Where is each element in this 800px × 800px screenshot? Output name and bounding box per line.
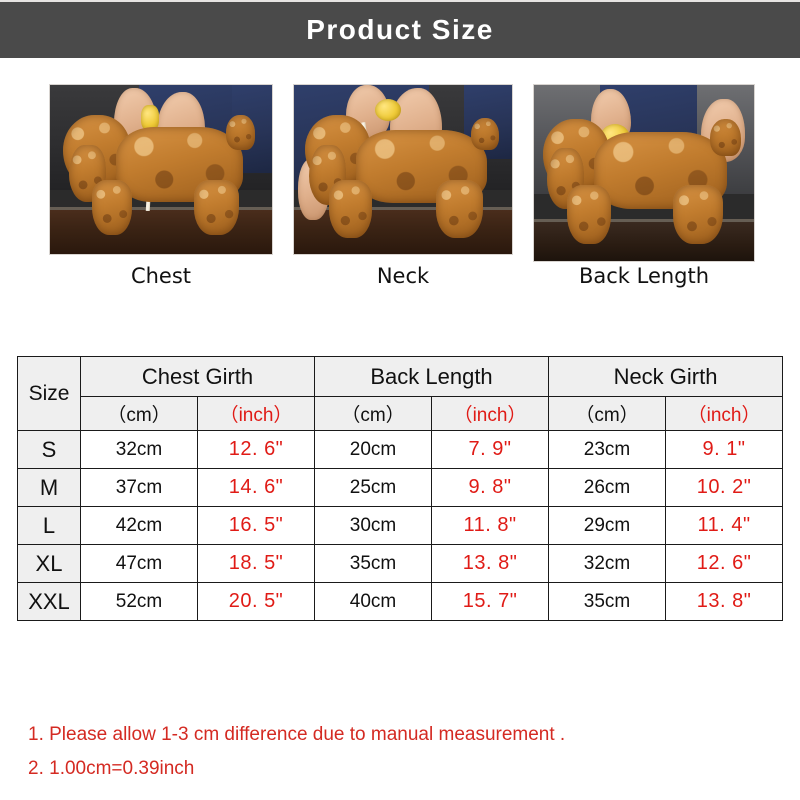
chest-cm-value: 32cm (81, 431, 198, 469)
plush-dog-chest (59, 112, 263, 237)
size-label: L (18, 507, 81, 545)
photo-neck (293, 84, 513, 255)
dog-tail (471, 118, 500, 151)
neck-cm-value: 35cm (549, 583, 666, 621)
dog-tail (710, 119, 741, 156)
chest-cm-value: 37cm (81, 469, 198, 507)
header-chest-girth: Chest Girth (81, 357, 315, 397)
back-inch-value: 15. 7" (432, 583, 549, 621)
back-cm-value: 30cm (315, 507, 432, 545)
table-header-groups: Size Chest Girth Back Length Neck Girth (18, 357, 783, 397)
photo-caption-neck: Neck (293, 264, 513, 288)
back-inch-value: 7. 9" (432, 431, 549, 469)
table-row: L 42cm 16. 5" 30cm 11. 8" 29cm 11. 4" (18, 507, 783, 545)
plush-dog-neck (301, 115, 506, 240)
photo-caption-back-length: Back Length (533, 264, 755, 288)
photo-back-length (533, 84, 755, 262)
dog-leg-front (567, 185, 610, 244)
neck-cm-value: 32cm (549, 545, 666, 583)
size-chart-table: Size Chest Girth Back Length Neck Girth … (17, 356, 783, 621)
neck-cm-value: 29cm (549, 507, 666, 545)
plush-dog-back-length (541, 113, 748, 247)
back-inch-value: 11. 8" (432, 507, 549, 545)
note-line-2: 2. 1.00cm=0.39inch (28, 752, 778, 786)
note-line-1: 1. Please allow 1-3 cm difference due to… (28, 718, 778, 752)
header-back-cm: （cm） (315, 397, 432, 431)
photo-cell-neck: Neck (293, 84, 513, 255)
neck-inch-value: 12. 6" (666, 545, 783, 583)
table-row: XXL 52cm 20. 5" 40cm 15. 7" 35cm 13. 8" (18, 583, 783, 621)
measurement-notes: 1. Please allow 1-3 cm difference due to… (28, 718, 778, 786)
dog-leg-back (673, 185, 723, 244)
neck-cm-value: 26cm (549, 469, 666, 507)
table-row: XL 47cm 18. 5" 35cm 13. 8" 32cm 12. 6" (18, 545, 783, 583)
header-chest-cm: （cm） (81, 397, 198, 431)
photo-caption-chest: Chest (49, 264, 273, 288)
header-neck-inch: （inch） (666, 397, 783, 431)
header-neck-girth: Neck Girth (549, 357, 783, 397)
size-label: S (18, 431, 81, 469)
chest-cm-value: 47cm (81, 545, 198, 583)
header-chest-inch: （inch） (198, 397, 315, 431)
header-back-length: Back Length (315, 357, 549, 397)
scene-neck (294, 85, 512, 254)
header-neck-cm: （cm） (549, 397, 666, 431)
photo-chest (49, 84, 273, 255)
header-back-inch: （inch） (432, 397, 549, 431)
page-title: Product Size (306, 14, 494, 46)
neck-inch-value: 11. 4" (666, 507, 783, 545)
photo-cell-back-length: Back Length (533, 84, 755, 262)
back-cm-value: 40cm (315, 583, 432, 621)
chest-inch-value: 20. 5" (198, 583, 315, 621)
size-label: XXL (18, 583, 81, 621)
dog-leg-back (436, 180, 483, 238)
header-size: Size (18, 357, 81, 431)
chest-inch-value: 12. 6" (198, 431, 315, 469)
dog-leg-front (92, 180, 133, 235)
size-label: M (18, 469, 81, 507)
chest-cm-value: 42cm (81, 507, 198, 545)
table-row: M 37cm 14. 6" 25cm 9. 8" 26cm 10. 2" (18, 469, 783, 507)
table-row: S 32cm 12. 6" 20cm 7. 9" 23cm 9. 1" (18, 431, 783, 469)
photo-cell-chest: Chest (49, 84, 273, 255)
chest-cm-value: 52cm (81, 583, 198, 621)
neck-inch-value: 9. 1" (666, 431, 783, 469)
back-inch-value: 13. 8" (432, 545, 549, 583)
neck-inch-value: 10. 2" (666, 469, 783, 507)
chest-inch-value: 18. 5" (198, 545, 315, 583)
dog-leg-front (329, 180, 372, 238)
neck-cm-value: 23cm (549, 431, 666, 469)
measurement-photo-row: Chest (0, 84, 800, 264)
back-cm-value: 20cm (315, 431, 432, 469)
table-header-units: （cm） （inch） （cm） （inch） （cm） （inch） (18, 397, 783, 431)
back-cm-value: 25cm (315, 469, 432, 507)
size-label: XL (18, 545, 81, 583)
dog-leg-back (194, 180, 239, 235)
neck-inch-value: 13. 8" (666, 583, 783, 621)
chest-inch-value: 16. 5" (198, 507, 315, 545)
chest-inch-value: 14. 6" (198, 469, 315, 507)
scene-chest (50, 85, 272, 254)
back-inch-value: 9. 8" (432, 469, 549, 507)
scene-back-length (534, 85, 754, 261)
product-size-banner: Product Size (0, 2, 800, 58)
back-cm-value: 35cm (315, 545, 432, 583)
dog-tail (226, 115, 255, 150)
